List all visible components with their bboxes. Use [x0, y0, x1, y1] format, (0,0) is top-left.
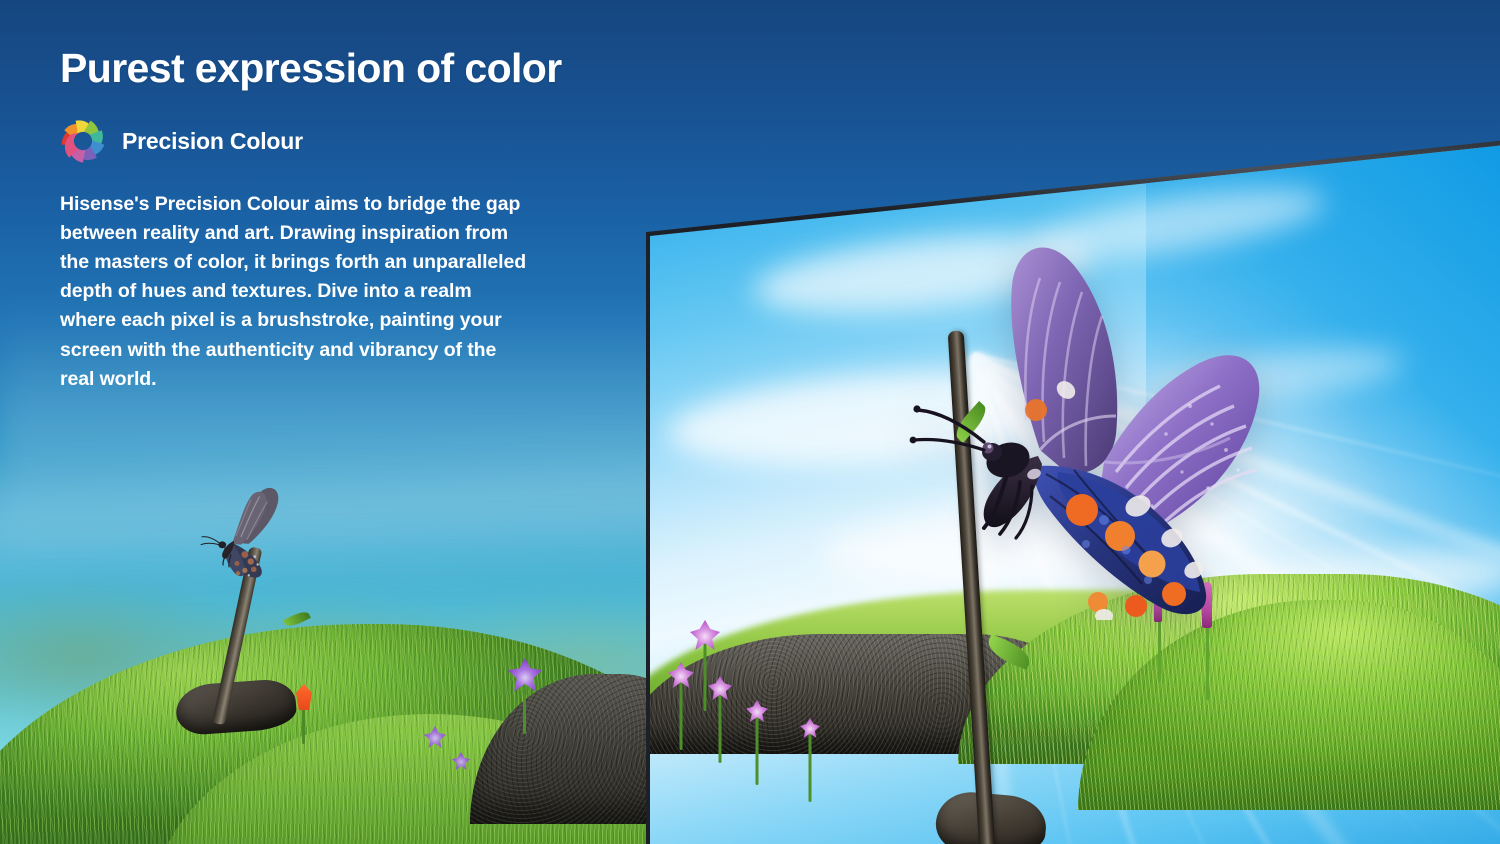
body-paragraph: Hisense's Precision Colour aims to bridg…: [60, 190, 530, 393]
background-orange-flower-stem: [302, 704, 305, 744]
brand-name: Precision Colour: [122, 128, 303, 155]
page-title: Purest expression of color: [60, 46, 620, 90]
copy-panel: Purest expression of color: [60, 46, 620, 394]
screen-pink-flower: [800, 718, 820, 738]
tv-panel: [646, 140, 1500, 844]
tv-screen: [650, 140, 1500, 844]
marketing-banner: Purest expression of color: [0, 0, 1500, 844]
screen-stalk-stem: [1158, 612, 1161, 682]
screen-pink-flower: [668, 662, 694, 688]
hero-butterfly-icon: [890, 220, 1310, 620]
brand-row: Precision Colour: [60, 118, 620, 164]
precision-colour-ring-icon: [60, 118, 106, 164]
screen-pink-flower: [746, 700, 768, 722]
screen-pink-flower: [690, 620, 720, 650]
background-purple-flower-stem: [523, 686, 526, 734]
reference-butterfly-icon: [178, 482, 296, 582]
screen-pink-flower: [708, 676, 732, 700]
